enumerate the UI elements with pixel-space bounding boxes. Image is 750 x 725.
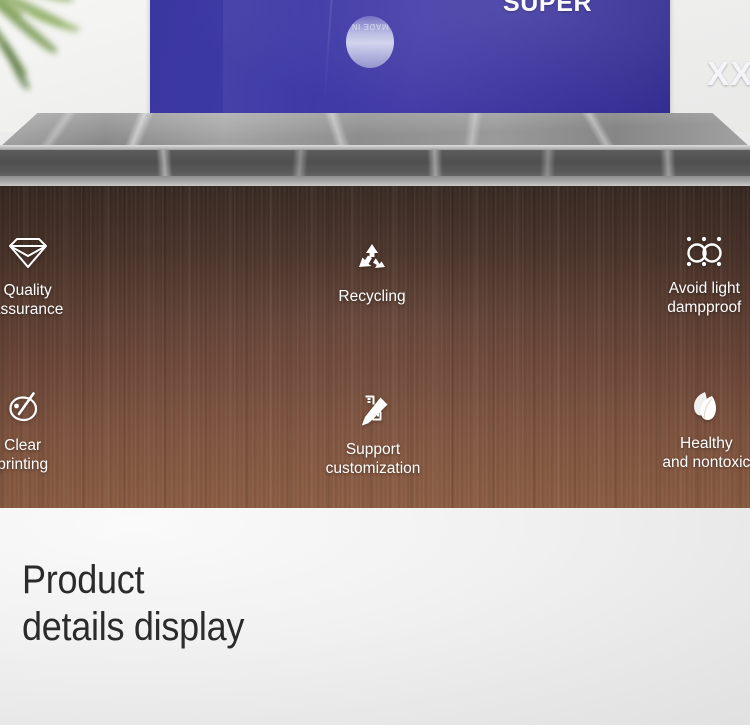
bag-brand-text: SUPER	[503, 0, 592, 18]
diamond-icon	[5, 230, 51, 276]
bag-sticker: MADE IN	[346, 16, 394, 68]
product-bag: MADE IN SUPER XXL	[150, 0, 670, 118]
hero-photo: MADE IN SUPER XXL	[0, 0, 750, 186]
sticker-label: MADE IN	[346, 22, 394, 31]
sticker-logo-icon	[351, 48, 389, 64]
feature-label: Recycling	[338, 288, 405, 307]
feature-label: Healthy and nontoxic	[662, 435, 750, 473]
recycling-icon	[349, 236, 395, 282]
product-detail-page: MADE IN SUPER XXL	[0, 0, 750, 725]
feature-quality-assurance: Quality assurance	[0, 230, 147, 357]
feature-support-customization: Support customization	[253, 389, 492, 508]
bag-highlight	[223, 0, 358, 118]
footer-section: Product details display The details show…	[0, 508, 750, 725]
page-title-line2: details display	[22, 604, 244, 651]
feature-avoid-light: Avoid light dampproof	[585, 228, 750, 355]
feature-label: Quality assurance	[0, 282, 63, 320]
palette-brush-icon	[0, 385, 46, 431]
bag-size-text: XXL	[707, 55, 750, 93]
features-section: Quality assurance Recycling	[0, 186, 750, 508]
avoid-light-icon	[681, 228, 727, 274]
feature-label: Clear printing	[0, 437, 48, 475]
plant-decoration	[0, 0, 124, 110]
feature-healthy-nontoxic: Healthy and nontoxic	[587, 383, 750, 508]
feature-label: Support customization	[326, 441, 421, 479]
page-title: Product details display	[22, 557, 244, 651]
leaf-icon	[683, 383, 729, 429]
feature-grid: Quality assurance Recycling	[0, 186, 750, 508]
pencil-ruler-icon	[350, 389, 396, 435]
page-title-line1: Product	[22, 558, 144, 602]
marble-table-top	[0, 113, 750, 147]
table-under-shadow	[0, 176, 750, 186]
feature-clear-printing: Clear printing	[0, 385, 142, 508]
feature-label: Avoid light dampproof	[667, 280, 741, 318]
feature-recycling: Recycling	[252, 236, 491, 363]
